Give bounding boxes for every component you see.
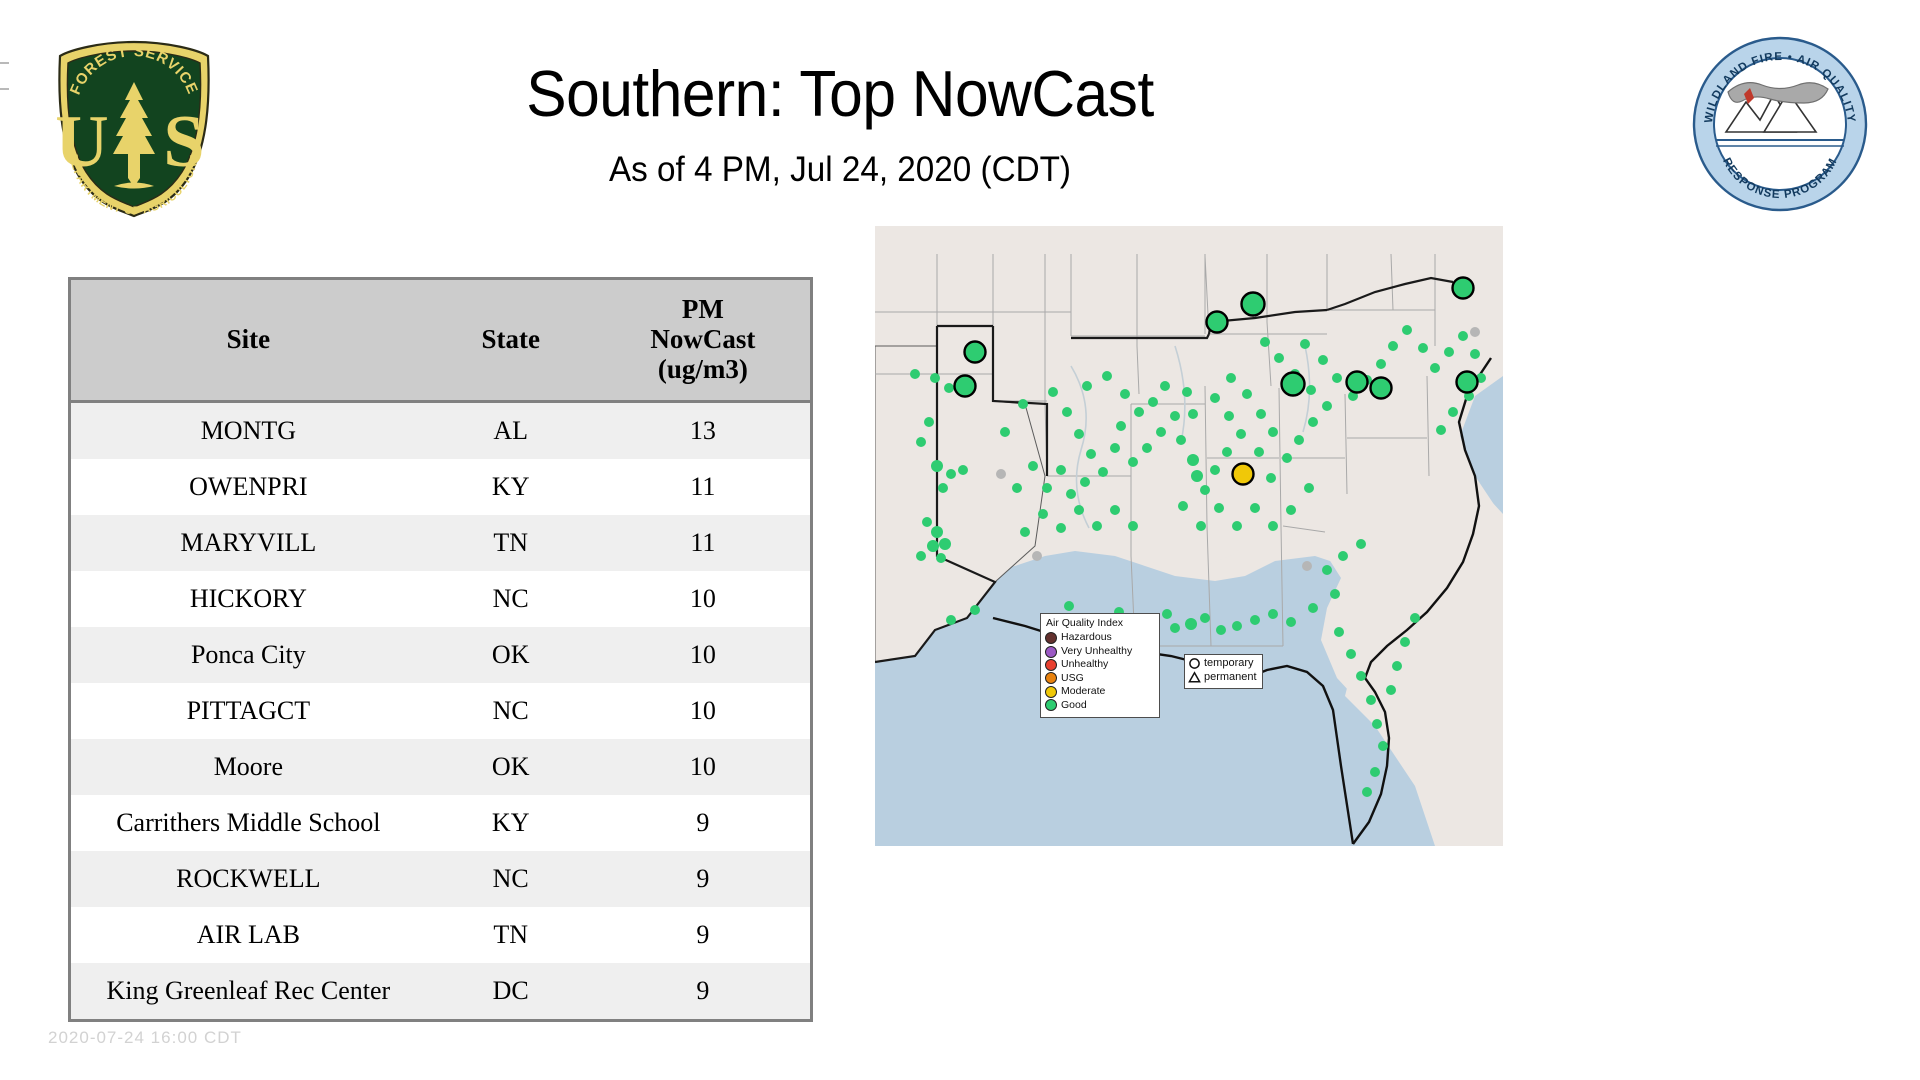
- cell-value: 9: [596, 963, 810, 1019]
- cell-value: 13: [596, 402, 810, 460]
- legend-color-swatch-good: [1045, 699, 1057, 711]
- slide-subtitle: As of 4 PM, Jul 24, 2020 (CDT): [403, 150, 1277, 190]
- table-row[interactable]: King Greenleaf Rec Center DC 9: [71, 963, 810, 1019]
- cell-state: KY: [426, 795, 596, 851]
- cell-state: TN: [426, 907, 596, 963]
- forest-service-logo: FOREST SERVICE DEPARTMENT OF AGRICULTURE…: [48, 38, 220, 218]
- cell-value: 9: [596, 851, 810, 907]
- edge-mark: [0, 62, 9, 64]
- legend-item-permanent: permanent: [1188, 671, 1257, 685]
- slide-title: Southern: Top NowCast: [412, 56, 1268, 131]
- cell-state: KY: [426, 459, 596, 515]
- cell-value: 10: [596, 571, 810, 627]
- monitor-dot: [1371, 378, 1392, 399]
- cell-value: 9: [596, 907, 810, 963]
- monitor-dot: [1457, 372, 1478, 393]
- cell-site: PITTAGCT: [71, 683, 426, 739]
- cell-value: 10: [596, 739, 810, 795]
- legend-item-temporary: temporary: [1188, 657, 1257, 671]
- cell-state: NC: [426, 851, 596, 907]
- column-header-line-1: PM: [596, 295, 810, 325]
- svg-text:U: U: [55, 101, 108, 183]
- nowcast-table-container: Site State PM NowCast (ug/m3) MONTG AL 1…: [68, 277, 813, 1022]
- monitor-map[interactable]: [875, 226, 1503, 846]
- svg-text:S: S: [163, 101, 204, 183]
- column-header-line-2: NowCast: [596, 325, 810, 355]
- legend-label: Unhealthy: [1061, 658, 1108, 671]
- slide-root: FOREST SERVICE DEPARTMENT OF AGRICULTURE…: [0, 0, 1920, 1080]
- legend-color-swatch-very-unhealthy: [1045, 646, 1057, 658]
- cell-state: DC: [426, 963, 596, 1019]
- monitor-dot: [1282, 373, 1305, 396]
- monitor-dot-moderate: [1233, 464, 1254, 485]
- cell-state: TN: [426, 515, 596, 571]
- cell-site: MONTG: [71, 402, 426, 460]
- nowcast-table: Site State PM NowCast (ug/m3) MONTG AL 1…: [71, 280, 810, 1019]
- cell-value: 10: [596, 683, 810, 739]
- column-header-pm-nowcast[interactable]: PM NowCast (ug/m3): [596, 280, 810, 402]
- legend-label: USG: [1061, 672, 1084, 685]
- table-row[interactable]: AIR LAB TN 9: [71, 907, 810, 963]
- column-header-site[interactable]: Site: [71, 280, 426, 402]
- cell-state: OK: [426, 627, 596, 683]
- legend-color-swatch-unhealthy: [1045, 659, 1057, 671]
- monitor-dot: [1453, 278, 1474, 299]
- cell-site: ROCKWELL: [71, 851, 426, 907]
- circle-icon: [1188, 657, 1201, 670]
- triangle-icon: [1188, 671, 1201, 684]
- table-row[interactable]: MARYVILL TN 11: [71, 515, 810, 571]
- cell-state: NC: [426, 683, 596, 739]
- cell-site: Carrithers Middle School: [71, 795, 426, 851]
- cell-site: Moore: [71, 739, 426, 795]
- monitor-dot: [1347, 372, 1368, 393]
- table-row[interactable]: OWENPRI KY 11: [71, 459, 810, 515]
- cell-value: 9: [596, 795, 810, 851]
- air-quality-index-legend: Air Quality Index Hazardous Very Unhealt…: [1040, 613, 1160, 718]
- legend-item-moderate: Moderate: [1045, 685, 1155, 698]
- table-row[interactable]: MONTG AL 13: [71, 402, 810, 460]
- legend-label: temporary: [1204, 657, 1254, 671]
- map-canvas: [875, 226, 1503, 846]
- program-seal-logo: WILDLAND FIRE • AIR QUALITY RESPONSE PRO…: [1692, 36, 1868, 212]
- legend-label: Good: [1061, 699, 1087, 712]
- table-row[interactable]: HICKORY NC 10: [71, 571, 810, 627]
- legend-item-unhealthy: Unhealthy: [1045, 658, 1155, 671]
- legend-label: permanent: [1204, 671, 1257, 685]
- legend-color-swatch-hazardous: [1045, 632, 1057, 644]
- legend-color-swatch-usg: [1045, 672, 1057, 684]
- table-row[interactable]: Ponca City OK 10: [71, 627, 810, 683]
- cell-state: OK: [426, 739, 596, 795]
- cell-site: Ponca City: [71, 627, 426, 683]
- legend-item-hazardous: Hazardous: [1045, 631, 1155, 644]
- cell-value: 10: [596, 627, 810, 683]
- table-row[interactable]: Moore OK 10: [71, 739, 810, 795]
- legend-title: Air Quality Index: [1046, 617, 1155, 630]
- footer-timestamp: 2020-07-24 16:00 CDT: [48, 1028, 242, 1048]
- cell-state: AL: [426, 402, 596, 460]
- cell-state: NC: [426, 571, 596, 627]
- table-header-row: Site State PM NowCast (ug/m3): [71, 280, 810, 402]
- legend-item-usg: USG: [1045, 672, 1155, 685]
- table-row[interactable]: Carrithers Middle School KY 9: [71, 795, 810, 851]
- legend-color-swatch-moderate: [1045, 686, 1057, 698]
- cell-site: OWENPRI: [71, 459, 426, 515]
- legend-label: Hazardous: [1061, 631, 1112, 644]
- monitor-dot: [955, 376, 976, 397]
- monitor-dot: [965, 342, 986, 363]
- legend-item-very-unhealthy: Very Unhealthy: [1045, 645, 1155, 658]
- monitor-type-legend: temporary permanent: [1184, 654, 1263, 689]
- column-header-line-3: (ug/m3): [596, 355, 810, 385]
- monitor-dot: [1207, 312, 1228, 333]
- cell-value: 11: [596, 459, 810, 515]
- cell-site: MARYVILL: [71, 515, 426, 571]
- edge-mark: [0, 88, 9, 90]
- legend-item-good: Good: [1045, 699, 1155, 712]
- cell-value: 11: [596, 515, 810, 571]
- cell-site: AIR LAB: [71, 907, 426, 963]
- column-header-state[interactable]: State: [426, 280, 596, 402]
- table-row[interactable]: ROCKWELL NC 9: [71, 851, 810, 907]
- cell-site: HICKORY: [71, 571, 426, 627]
- cell-site: King Greenleaf Rec Center: [71, 963, 426, 1019]
- table-row[interactable]: PITTAGCT NC 10: [71, 683, 810, 739]
- legend-label: Moderate: [1061, 685, 1105, 698]
- monitor-dot: [1242, 293, 1265, 316]
- table-body: MONTG AL 13 OWENPRI KY 11 MARYVILL TN 11…: [71, 402, 810, 1020]
- legend-label: Very Unhealthy: [1061, 645, 1132, 658]
